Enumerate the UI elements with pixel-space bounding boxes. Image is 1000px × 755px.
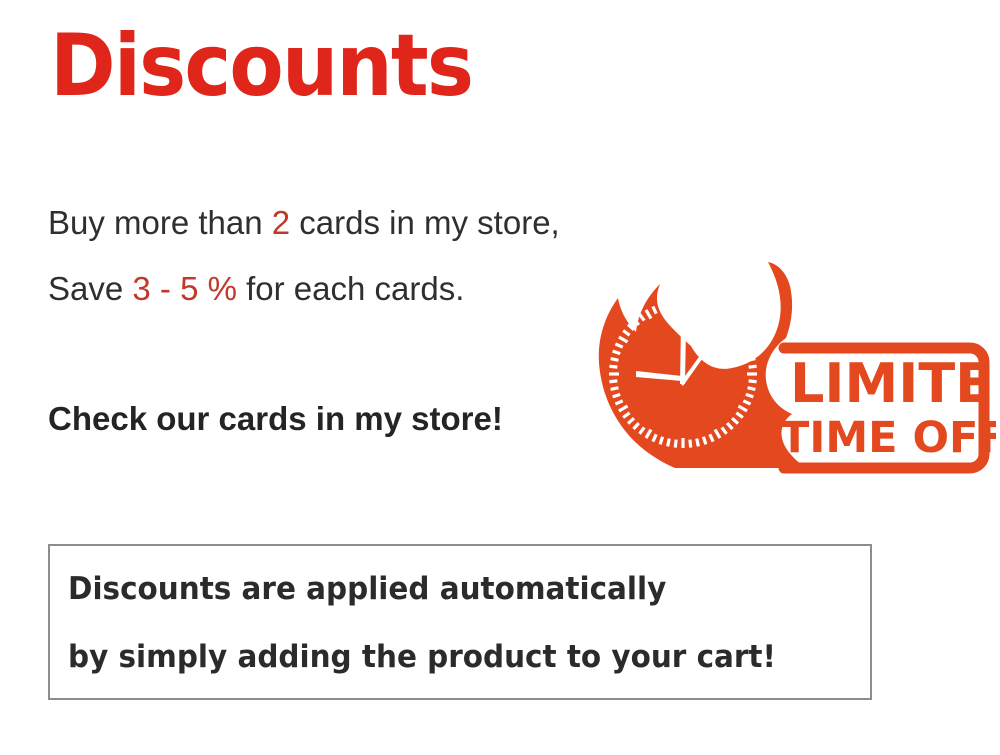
discount-rule-line-2-prefix: Save: [48, 270, 132, 307]
discount-rule-line-1-prefix: Buy more than: [48, 204, 272, 241]
limited-time-offer-badge: LIMITED TIME OFFER: [596, 262, 996, 522]
promo-banner: Discounts Buy more than 2 cards in my st…: [0, 0, 1000, 755]
auto-discount-callout: Discounts are applied automatically by s…: [48, 544, 872, 700]
discount-rule-line-2-suffix: for each cards.: [237, 270, 464, 307]
page-title: Discounts: [50, 18, 472, 114]
discount-rule-line-1-suffix: cards in my store,: [290, 204, 560, 241]
discount-rule-line-2-highlight: 3 - 5 %: [132, 270, 237, 307]
discount-rule-line-2: Save 3 - 5 % for each cards.: [48, 269, 464, 309]
auto-discount-callout-line-1: Discounts are applied automatically: [68, 570, 666, 608]
store-call-to-action: Check our cards in my store!: [48, 398, 503, 440]
discount-rule-line-1: Buy more than 2 cards in my store,: [48, 203, 560, 243]
discount-rule-line-1-highlight: 2: [272, 204, 290, 241]
badge-line-2: TIME OFFER: [780, 413, 996, 463]
auto-discount-callout-line-2: by simply adding the product to your car…: [68, 638, 776, 676]
badge-line-1: LIMITED: [790, 352, 996, 415]
